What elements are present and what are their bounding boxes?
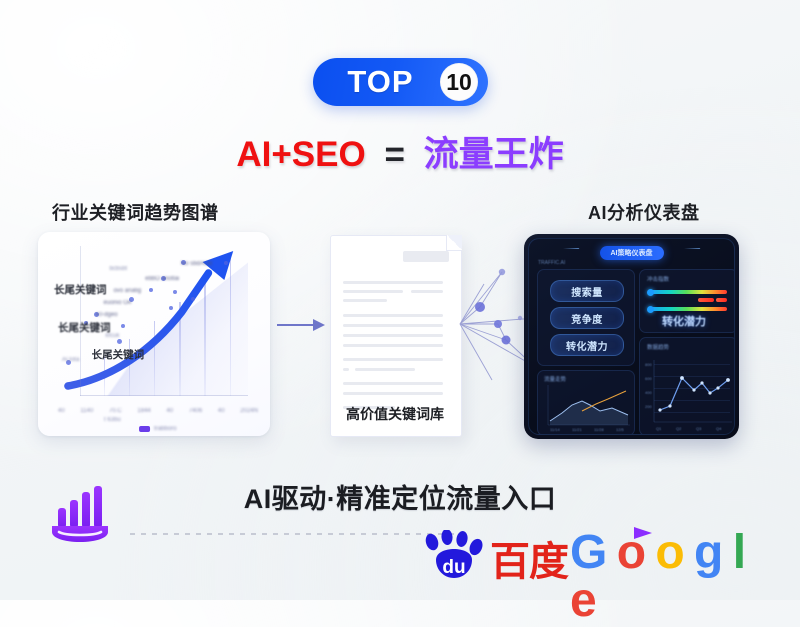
doc-bullet [343,368,349,371]
google-letter-G: G [570,526,605,579]
title-part-traffic: 流量王炸 [424,135,564,174]
doc-header-block [403,251,449,262]
trend-x-axis-label: t 63bu [104,417,121,423]
badge-label: TOP [313,64,440,100]
doc-text-line [343,281,443,284]
google-letter-l: l [733,526,744,579]
traffic-mini-chart-panel: 流量走势 11/14 11/21 11/28 12/5 [537,370,635,435]
metric-pill-conversion[interactable]: 转化潜力 [550,334,624,356]
x-tick: 1140 [80,408,93,414]
keyword-label: 长尾关键词 [92,347,145,362]
doc-text-line [343,299,387,302]
doc-text-line [343,290,403,293]
gauge-bar-secondary [649,307,727,311]
x-tick: 7406 [189,408,202,414]
blurred-label: euonio Oн [104,300,132,306]
blurred-label: e0-dgeo [96,312,118,318]
doc-text-line [343,382,443,385]
blurred-label: ALtota [62,357,79,363]
left-section-caption: 行业关键词趋势图谱 [52,199,219,225]
dashboard-line-chart [640,338,735,435]
baidu-paw-icon: du [420,530,488,582]
trend-legend: trabboro [139,426,176,432]
bar-chart-pedestal-icon [44,482,116,544]
scatter-dot [169,306,173,310]
trend-x-tick-labels: 40 1140 70.C 1844 40 7406 40 2024N [58,408,258,414]
blurred-label: No sbdAOB [181,261,213,267]
doc-text-line [355,368,415,371]
google-letter-o1: o [617,526,644,579]
legend-swatch [139,426,150,432]
gauge-panel-title: 冲击指数 [647,275,669,283]
keyword-trend-card: bcbsbt No sbdAOB ebbO anotlai ovo anatig… [38,232,270,436]
search-engine-logos: du 百度 G o o g l e [420,524,750,586]
gauge-knob[interactable] [647,306,654,313]
keyword-label: 长尾关键词 [54,282,107,297]
trend-chart-panel: 数据趋势 800 [639,337,735,435]
baidu-logo-text: 百度 [490,542,568,582]
title-part-ai-seo: AI+SEO [236,135,365,174]
doc-text-line [343,358,443,361]
document-caption: 高价值关键词库 [330,404,460,424]
x-tick: 40 [166,408,173,414]
slide-canvas: TOP 10 AI+SEO = 流量王炸 行业关键词趋势图谱 AI分析仪表盘 [0,0,800,600]
doc-text-line [411,290,443,293]
impact-gauge-panel: 冲击指数 转化潜力 [639,269,735,333]
baidu-logo: du 百度 [420,530,568,582]
doc-text-line [343,392,443,395]
blurred-label: ebbO anotlai [145,276,179,282]
doc-text-line [343,344,443,347]
footer-dashed-connector [130,533,460,535]
trend-x-axis [80,395,248,396]
blurred-label: bcbsbt [109,266,127,272]
google-letter-o2: o [655,526,682,579]
legend-label: trabboro [154,426,176,432]
gauge-alert-chip [698,298,714,302]
metric-pill-search-volume[interactable]: 搜索量 [550,280,624,302]
flow-arrow-1 [277,318,325,332]
dashboard-corner-label: TRAFFIC.AI [538,260,565,266]
x-tick: 40 [58,408,65,414]
mini-area-chart [538,371,634,435]
gauge-alert-chip [716,298,727,302]
metric-selector-panel: 搜索量 竞争度 转化潜力 [537,269,635,366]
scatter-dot [191,297,195,301]
x-tick: 40 [218,408,225,414]
right-section-caption: AI分析仪表盘 [588,199,700,225]
google-logo: G o o g l e [570,529,750,625]
doc-text-line [343,314,443,317]
x-tick: 70.C [109,408,122,414]
top-rank-badge: TOP 10 [313,58,488,106]
x-tick: 1844 [137,408,150,414]
scatter-dot [173,290,177,294]
footer-tagline: AI驱动·精准定位流量入口 [0,477,800,516]
keyword-label: 长尾关键词 [58,320,111,335]
google-letter-e: e [570,574,595,627]
google-letter-g: g [694,526,721,579]
title-equals-sign: = [384,135,404,174]
dashboard-title-pill: AI策略仪表盘 [600,246,664,260]
gauge-knob[interactable] [647,289,654,296]
doc-text-line [343,324,443,327]
decor-corner-line [684,248,701,249]
page-title: AI+SEO = 流量王炸 [0,126,800,177]
x-tick: 2024N [240,408,258,414]
gauge-bar-primary [649,290,727,294]
metric-pill-competition[interactable]: 竞争度 [550,307,624,329]
ai-dashboard-card: AI策略仪表盘 TRAFFIC.AI 搜索量 竞争度 转化潜力 流量走势 11/… [524,234,739,439]
blurred-label: ovo anatig [113,288,141,294]
badge-number: 10 [440,63,478,101]
trend-plot-area: bcbsbt No sbdAOB ebbO anotlai ovo anatig… [58,246,256,396]
gauge-overlay-label: 转化潜力 [662,313,706,329]
dashboard-screen: AI策略仪表盘 TRAFFIC.AI 搜索量 竞争度 转化潜力 流量走势 11/… [528,238,735,435]
svg-text:du: du [442,557,465,578]
doc-text-line [343,334,443,337]
decor-corner-line [563,248,580,249]
